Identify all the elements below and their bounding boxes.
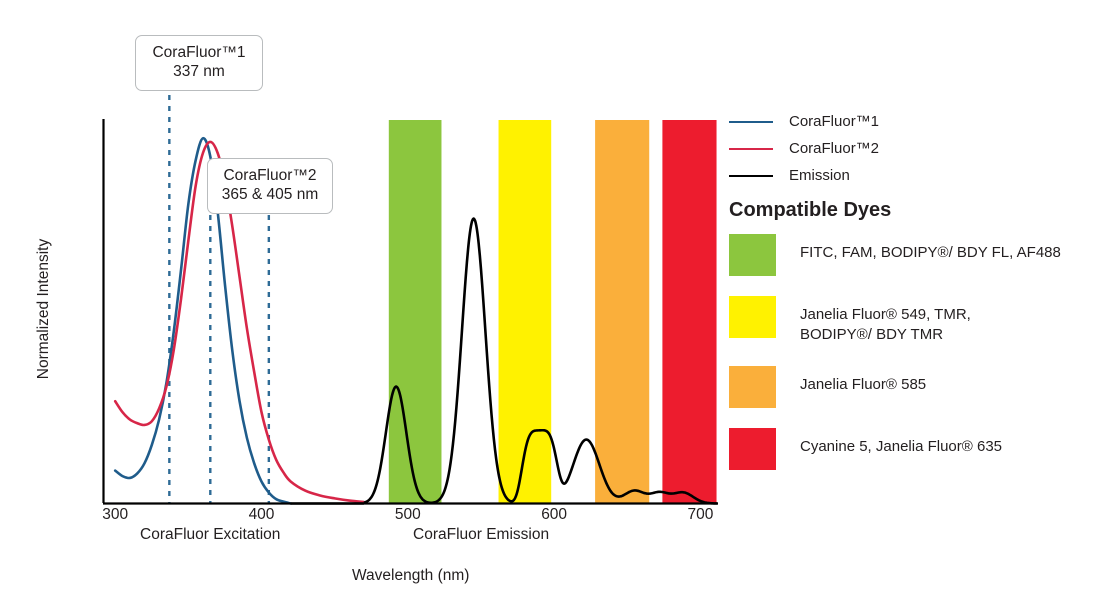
red-band (662, 120, 716, 504)
dye-label-line1: FITC, FAM, BODIPY®/ BDY FL, AF488 (800, 243, 1061, 263)
dye-label-line2: BODIPY®/ BDY TMR (800, 325, 971, 345)
dye-label: Cyanine 5, Janelia Fluor® 635 (800, 428, 1002, 457)
dye-color-swatch (729, 296, 776, 338)
callout-cf1-line1: CoraFluor™1 (148, 43, 250, 62)
legend-line-icon (729, 148, 773, 150)
callout-corafluor2: CoraFluor™2 365 & 405 nm (207, 158, 333, 214)
dye-row-4: Cyanine 5, Janelia Fluor® 635 (729, 428, 1104, 470)
dye-color-swatch (729, 428, 776, 470)
dye-row-1: FITC, FAM, BODIPY®/ BDY FL, AF488 (729, 234, 1104, 276)
dye-row-2: Janelia Fluor® 549, TMR,BODIPY®/ BDY TMR (729, 296, 1104, 346)
compatible-dyes-title: Compatible Dyes (729, 199, 891, 222)
dye-label-line1: Cyanine 5, Janelia Fluor® 635 (800, 437, 1002, 457)
callout-cf2-line2: 365 & 405 nm (220, 185, 320, 204)
dye-color-swatch (729, 366, 776, 408)
dye-row-3: Janelia Fluor® 585 (729, 366, 1104, 408)
callout-cf1-line2: 337 nm (148, 62, 250, 81)
x-tick-600: 600 (524, 506, 584, 524)
x-tick-400: 400 (232, 506, 292, 524)
dye-label: FITC, FAM, BODIPY®/ BDY FL, AF488 (800, 234, 1061, 263)
legend-item-1: CoraFluor™1 (729, 108, 1099, 135)
dye-label: Janelia Fluor® 585 (800, 366, 926, 395)
x-tick-300: 300 (85, 506, 145, 524)
legend-item-label: Emission (789, 167, 850, 184)
callout-corafluor1: CoraFluor™1 337 nm (135, 35, 263, 91)
dye-color-swatch (729, 234, 776, 276)
legend-line-icon (729, 121, 773, 123)
x-axis-title: Wavelength (nm) (352, 567, 469, 585)
legend-item-3: Emission (729, 162, 1099, 189)
dye-label: Janelia Fluor® 549, TMR,BODIPY®/ BDY TMR (800, 296, 971, 346)
legend-item-2: CoraFluor™2 (729, 135, 1099, 162)
legend-item-label: CoraFluor™2 (789, 140, 879, 157)
spectra-figure: CoraFluor™1 337 nm CoraFluor™2 365 & 405… (0, 0, 1110, 612)
callout-cf2-line1: CoraFluor™2 (220, 166, 320, 185)
compatible-dyes-list: FITC, FAM, BODIPY®/ BDY FL, AF488Janelia… (729, 234, 1104, 490)
legend-item-label: CoraFluor™1 (789, 113, 879, 130)
series-legend: CoraFluor™1CoraFluor™2Emission (729, 108, 1099, 189)
emission-region-label: CoraFluor Emission (413, 526, 549, 544)
dye-label-line1: Janelia Fluor® 549, TMR, (800, 305, 971, 325)
orange-band (595, 120, 649, 504)
x-tick-500: 500 (378, 506, 438, 524)
dye-label-line1: Janelia Fluor® 585 (800, 375, 926, 395)
y-axis-title: Normalized Intensity (35, 219, 53, 399)
excitation-region-label: CoraFluor Excitation (140, 526, 280, 544)
x-tick-700: 700 (670, 506, 730, 524)
legend-line-icon (729, 175, 773, 177)
green-band (389, 120, 442, 504)
